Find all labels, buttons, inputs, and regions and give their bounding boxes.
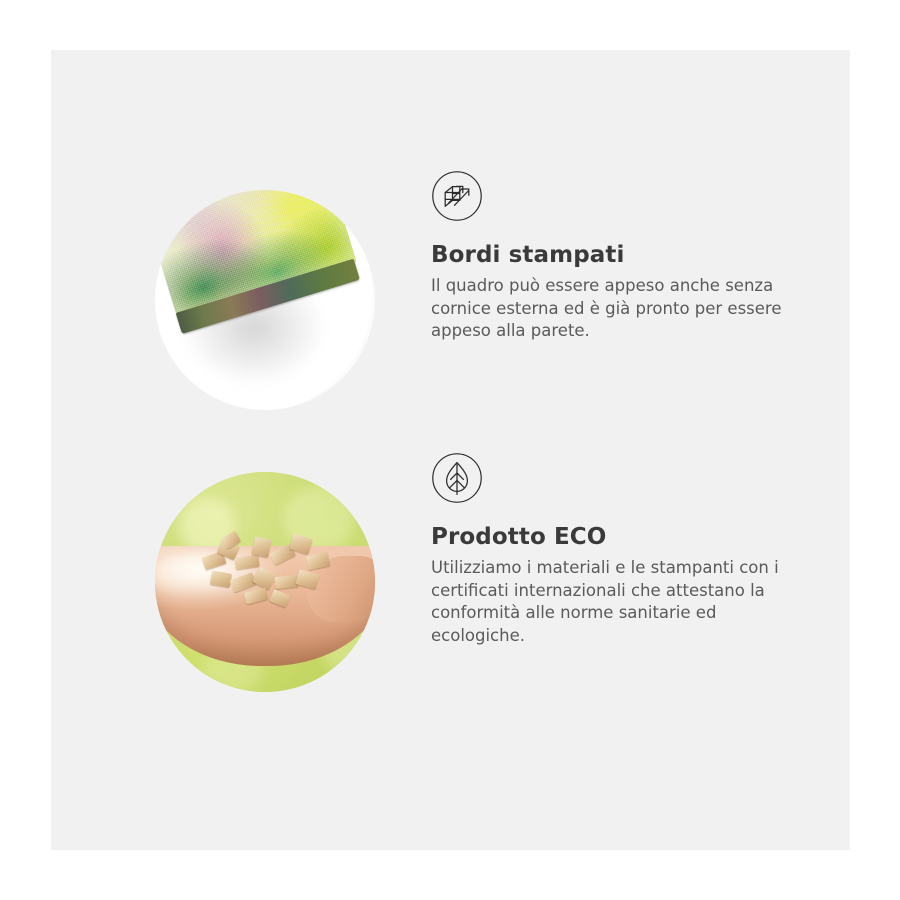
feature-title: Prodotto ECO	[431, 523, 809, 551]
wood-chip	[244, 588, 268, 605]
canvas-print-corner-photo	[155, 190, 375, 410]
feature-description: Il quadro può essere appeso anche senza …	[431, 275, 797, 343]
feature-title: Bordi stampati	[431, 241, 809, 269]
eco-photo-background	[155, 472, 375, 692]
feature-copy-eco-product: Prodotto ECO Utilizziamo i materiali e l…	[429, 452, 809, 647]
wood-chip	[269, 589, 291, 608]
feature-copy-printed-edges: Bordi stampati Il quadro può essere appe…	[429, 170, 809, 343]
printed-edges-icon	[431, 170, 483, 222]
wood-chip	[234, 554, 259, 569]
content-panel: Bordi stampati Il quadro può essere appe…	[51, 50, 850, 850]
wood-chips-pile	[201, 532, 337, 608]
wood-chip	[251, 536, 271, 557]
leaf-icon	[431, 452, 483, 504]
canvas-photo-background	[155, 190, 375, 410]
wood-chip	[210, 570, 232, 587]
wood-chip	[295, 569, 319, 589]
hands-with-wood-chips-photo	[155, 472, 375, 692]
promo-infographic-page: Bordi stampati Il quadro può essere appe…	[0, 0, 900, 900]
wood-chip	[306, 552, 330, 570]
feature-description: Utilizziamo i materiali e le stampanti c…	[431, 557, 797, 647]
canvas-print-object	[155, 190, 375, 399]
